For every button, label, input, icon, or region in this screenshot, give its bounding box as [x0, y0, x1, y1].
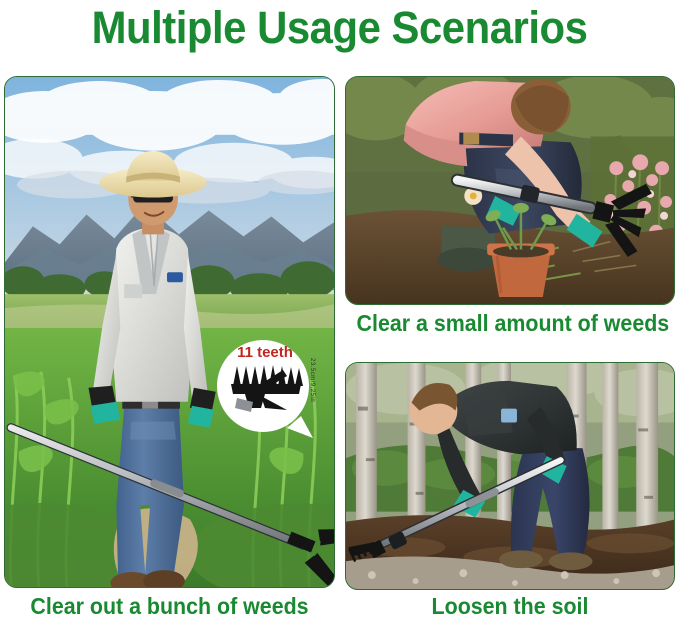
scene-farmer-cornfield	[5, 77, 334, 587]
caption-loosen-the-soil: Loosen the soil	[357, 593, 664, 619]
product-infographic: Multiple Usage Scenarios	[0, 0, 679, 620]
caption-clear-small-weeds: Clear a small amount of weeds	[357, 310, 664, 336]
image-panel-clear-bunch-of-weeds	[4, 76, 335, 588]
caption-clear-bunch-of-weeds: Clear out a bunch of weeds	[16, 593, 324, 619]
scene-loosening-soil	[346, 363, 674, 589]
page-title: Multiple Usage Scenarios	[24, 2, 655, 54]
image-panel-loosen-the-soil	[345, 362, 675, 590]
image-panel-clear-small-weeds	[345, 76, 675, 305]
scene-kneeling-gardener	[346, 77, 674, 304]
